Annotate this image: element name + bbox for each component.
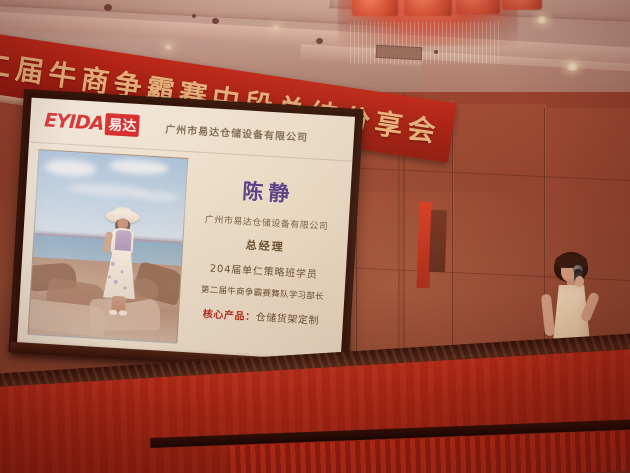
slide-body: 陈静 广州市易达仓储设备有限公司 总经理 204届单仁策略班学员 第二届牛商争霸… bbox=[17, 143, 352, 364]
slide-line-course: 204届单仁策略班学员 bbox=[209, 259, 318, 280]
chandelier-cell bbox=[352, 0, 398, 16]
slide-core-product-value: 仓储货架定制 bbox=[255, 312, 319, 327]
slide-company-header: 广州市易达仓储设备有限公司 bbox=[165, 120, 309, 143]
slide-person-name: 陈静 bbox=[242, 175, 296, 208]
photo-shoe bbox=[119, 310, 127, 315]
logo-chinese-mark: 易达 bbox=[105, 113, 140, 137]
ceiling-sensor-dot bbox=[192, 14, 196, 18]
photo-skirt bbox=[103, 249, 138, 299]
slide-person-company: 广州市易达仓储设备有限公司 bbox=[205, 212, 329, 232]
photo-scene: 二届牛商争霸赛中段总结分享会 EYIDA 易达 广州市易达仓储设备有限公司 bbox=[0, 0, 630, 473]
chandelier-cell bbox=[404, 0, 452, 16]
ceiling-speaker-dot bbox=[212, 18, 219, 24]
slide-portrait-photo bbox=[28, 149, 189, 344]
wall-door-edge bbox=[429, 210, 447, 273]
speaker-hand bbox=[575, 276, 584, 287]
projector-screen: EYIDA 易达 广州市易达仓储设备有限公司 bbox=[17, 98, 355, 364]
photo-woman bbox=[97, 209, 148, 329]
slide-line-role: 第二届牛商争霸赛舞队学习部长 bbox=[201, 283, 325, 302]
eyida-logo: EYIDA 易达 bbox=[44, 109, 140, 137]
downlight-icon bbox=[272, 24, 280, 30]
speaker-hair-fringe bbox=[555, 254, 587, 268]
slide-text-block: 陈静 广州市易达仓储设备有限公司 总经理 204届单仁策略班学员 第二届牛商争霸… bbox=[185, 158, 344, 352]
slide-core-product: 核心产品：仓储货架定制 bbox=[202, 305, 319, 327]
projector-screen-frame: EYIDA 易达 广州市易达仓储设备有限公司 bbox=[9, 89, 364, 372]
slide-core-product-label: 核心产品： bbox=[202, 309, 256, 323]
chandelier-cell bbox=[456, 0, 500, 14]
downlight-icon bbox=[536, 16, 548, 24]
ceiling-speaker-dot bbox=[316, 38, 323, 44]
slide-person-title: 总经理 bbox=[245, 237, 285, 255]
downlight-icon bbox=[164, 44, 173, 50]
ceiling-speaker-dot bbox=[104, 4, 112, 11]
downlight-icon bbox=[566, 62, 579, 71]
photo-shoe bbox=[109, 310, 117, 315]
speaker-left-arm bbox=[541, 294, 555, 337]
chandelier-cell bbox=[502, 0, 542, 10]
ceiling-sensor-dot bbox=[434, 50, 438, 54]
chandelier-crystal-strands bbox=[350, 22, 500, 64]
logo-wordmark: EYIDA bbox=[44, 109, 104, 134]
ceiling-vent bbox=[376, 45, 423, 60]
